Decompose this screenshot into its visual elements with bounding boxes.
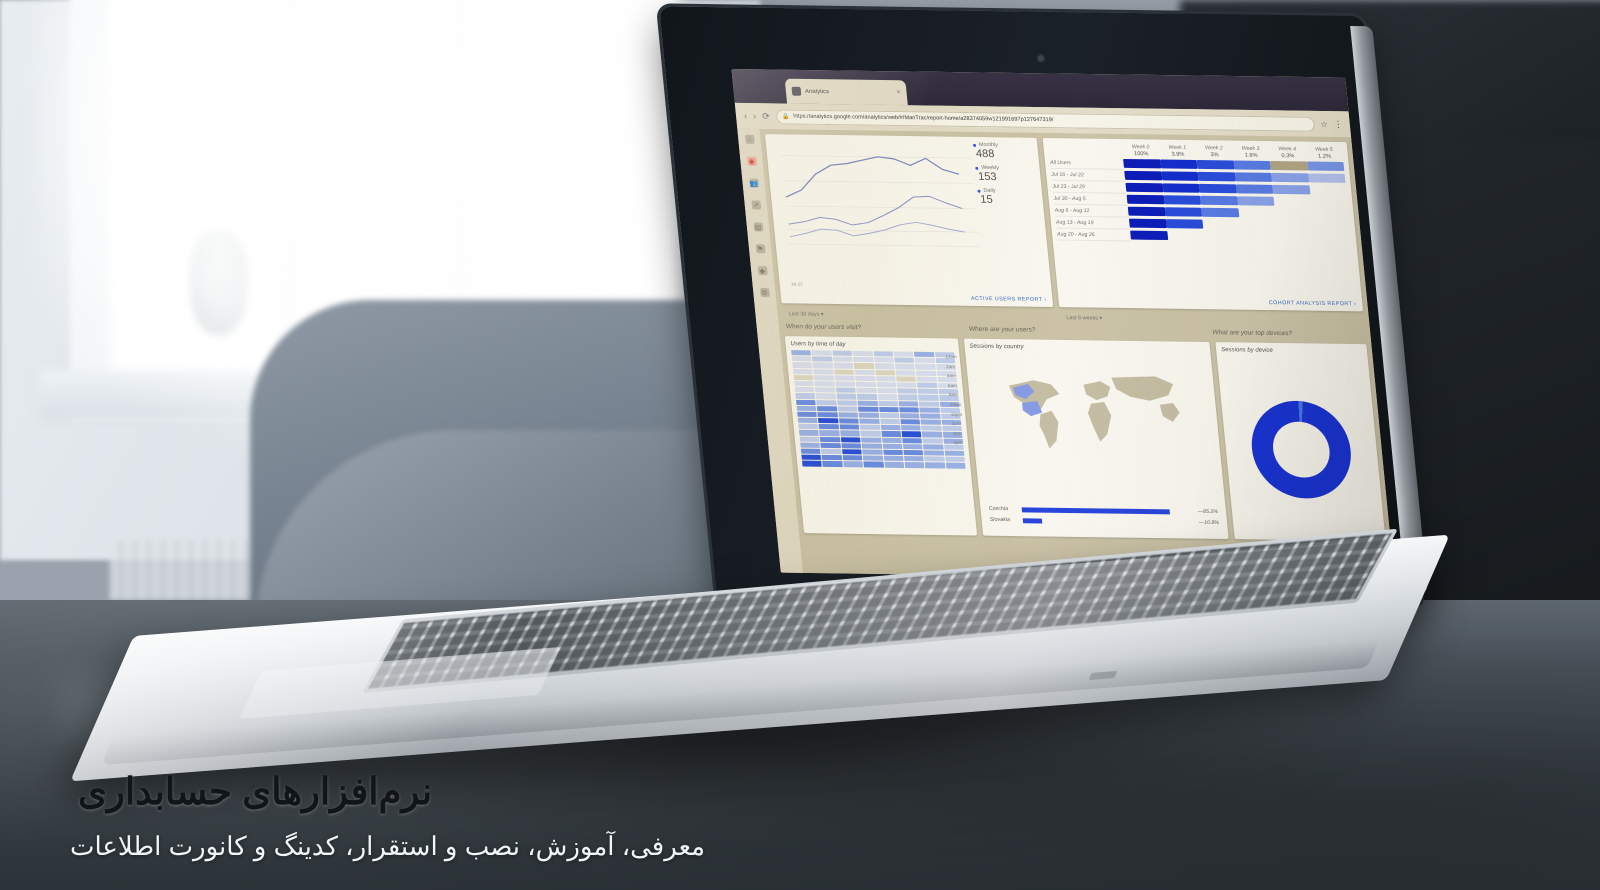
legend-dot bbox=[977, 189, 980, 192]
bar-track bbox=[1023, 518, 1197, 525]
cohort-cell-fill bbox=[1313, 221, 1351, 230]
cohort-cell-fill bbox=[1277, 233, 1315, 242]
heatmap-cell bbox=[862, 443, 882, 448]
cohort-cell bbox=[1311, 208, 1349, 220]
section-top-devices: What are your top devices? bbox=[1210, 328, 1366, 339]
heatmap-cell bbox=[860, 425, 880, 430]
back-arrow-icon[interactable]: ‹ bbox=[744, 111, 748, 121]
heatmap-cell bbox=[820, 430, 840, 435]
top-cards-row: Jul 23 Monthly488Weekly153Daily15 ACTIVE… bbox=[765, 134, 1363, 311]
cohort-cell-fill bbox=[1160, 160, 1198, 169]
heatmap-cell bbox=[873, 351, 893, 356]
cohort-cell-fill bbox=[1310, 197, 1348, 206]
hour-label: 8am bbox=[949, 392, 961, 397]
heatmap-cell bbox=[877, 388, 897, 393]
cohort-cell bbox=[1203, 218, 1241, 230]
webcam bbox=[1038, 55, 1045, 61]
heatmap-cell bbox=[920, 413, 940, 418]
heatmap-cell bbox=[797, 406, 817, 411]
analytics-app: ⌂◉👥↗▤⚑◆⚙ bbox=[737, 129, 1394, 581]
bar-track bbox=[1022, 507, 1196, 514]
heatmap-cell bbox=[874, 357, 894, 362]
country-value: —10.8% bbox=[1199, 520, 1220, 526]
cohort-cell bbox=[1125, 169, 1163, 181]
cohort-cell-fill bbox=[1131, 231, 1169, 240]
heatmap-cell bbox=[880, 425, 900, 430]
cohort-cell-fill bbox=[1233, 161, 1271, 170]
heatmap-cell bbox=[853, 351, 873, 356]
heatmap-cell bbox=[883, 450, 903, 455]
behavior-icon[interactable]: ▤ bbox=[753, 222, 763, 231]
cohort-cell bbox=[1201, 206, 1239, 218]
section-where-users: Where are your users? bbox=[967, 325, 1205, 337]
heatmap-cell bbox=[862, 449, 882, 454]
heatmap-cell bbox=[841, 437, 861, 442]
cohort-cell-fill bbox=[1129, 219, 1167, 228]
section-when-visit: When do your users visit? bbox=[783, 322, 961, 333]
heatmap-cell bbox=[863, 456, 883, 461]
heatmap-cell bbox=[921, 426, 941, 431]
active-users-report-link[interactable]: ACTIVE USERS REPORT › bbox=[971, 296, 1047, 303]
heatmap-cell bbox=[799, 430, 819, 435]
time-of-day-heatmap bbox=[791, 350, 965, 468]
cohort-cell-fill bbox=[1241, 232, 1279, 241]
cohort-cell-fill bbox=[1197, 160, 1235, 169]
heatmap-cell bbox=[856, 382, 876, 387]
heatmap-cell bbox=[946, 463, 966, 468]
cohort-card: Week 0Week 1Week 2Week 3Week 4Week 5100%… bbox=[1043, 138, 1363, 311]
heatmap-cell bbox=[902, 432, 922, 437]
cohort-table: Week 0Week 1Week 2Week 3Week 4Week 5100%… bbox=[1048, 143, 1351, 245]
heatmap-cell bbox=[895, 370, 915, 375]
cohort-cell-fill bbox=[1199, 184, 1237, 193]
admin-icon[interactable]: ⚙ bbox=[759, 288, 769, 297]
legend-value: 488 bbox=[975, 148, 1034, 161]
heatmap-cell bbox=[897, 382, 917, 387]
cohort-cell bbox=[1308, 172, 1346, 184]
heatmap-cell bbox=[836, 388, 856, 393]
heatmap-cell bbox=[904, 456, 924, 461]
cohort-cell-fill bbox=[1314, 233, 1352, 242]
heatmap-cell bbox=[864, 462, 884, 467]
heatmap-cell bbox=[821, 449, 841, 454]
tab-title: Analytics bbox=[805, 88, 830, 94]
date-range-label: Last 30 days bbox=[788, 311, 819, 317]
country-name: Slovakia bbox=[989, 517, 1020, 523]
heatmap-cell bbox=[919, 401, 939, 406]
link-label: ACTIVE USERS REPORT bbox=[971, 296, 1043, 303]
heatmap-cell bbox=[795, 387, 815, 392]
cohort-cell bbox=[1200, 194, 1238, 206]
cohort-cell-fill bbox=[1237, 196, 1275, 205]
lid-body: Analytics × ‹ › ⟳ 🔒 https://analytics.go… bbox=[659, 6, 1421, 603]
heatmap-cell bbox=[792, 362, 812, 367]
heatmap-cell bbox=[798, 418, 818, 423]
heatmap-cell bbox=[903, 450, 923, 455]
cohort-cell bbox=[1167, 230, 1205, 242]
cohort-cell bbox=[1204, 230, 1242, 242]
heatmap-cell bbox=[880, 419, 900, 424]
active-users-svg bbox=[770, 139, 981, 259]
heatmap-cell bbox=[945, 457, 965, 462]
chevron-down-icon: ▾ bbox=[1099, 316, 1102, 322]
heatmap-cell bbox=[817, 406, 837, 411]
cohort-cell-fill bbox=[1307, 162, 1345, 171]
heatmap-cell bbox=[922, 432, 942, 437]
cohort-row-label: Jul 30 - Aug 5 bbox=[1053, 192, 1128, 205]
heatmap-cell bbox=[836, 394, 856, 399]
cohort-cell bbox=[1128, 205, 1166, 217]
heatmap-cell bbox=[896, 376, 916, 381]
heatmap-cell bbox=[897, 388, 917, 393]
browser-window: Analytics × ‹ › ⟳ 🔒 https://analytics.go… bbox=[731, 69, 1394, 581]
heatmap-cell bbox=[899, 407, 919, 412]
heatmap-cell bbox=[882, 444, 902, 449]
heatmap-cell bbox=[793, 369, 813, 374]
hour-label: 6pm bbox=[953, 440, 965, 445]
heatmap-cell bbox=[842, 449, 862, 454]
cohort-cell bbox=[1275, 207, 1313, 219]
cohort-cell bbox=[1162, 182, 1200, 194]
chevron-right-icon: › bbox=[1044, 297, 1047, 303]
cohort-row-label: Jul 23 - Jul 29 bbox=[1052, 180, 1127, 193]
cohort-cell bbox=[1238, 207, 1276, 219]
cohort-cell bbox=[1309, 184, 1347, 196]
analytics-favicon bbox=[791, 87, 801, 96]
cohort-cell bbox=[1123, 158, 1161, 170]
heatmap-cell bbox=[882, 437, 902, 442]
heatmap-cell bbox=[944, 451, 964, 456]
cohort-cell-fill bbox=[1311, 209, 1349, 218]
heatmap-cell bbox=[814, 375, 834, 380]
bar-fill bbox=[1022, 507, 1170, 514]
heatmap-cell bbox=[918, 389, 938, 394]
cohort-cell-fill bbox=[1167, 231, 1205, 240]
heatmap-cell bbox=[838, 412, 858, 417]
heatmap-cell bbox=[794, 381, 814, 386]
heatmap-cell bbox=[840, 431, 860, 436]
heatmap-cell bbox=[816, 393, 836, 398]
heatmap-cell bbox=[823, 461, 843, 466]
cohort-cell bbox=[1234, 171, 1272, 183]
heatmap-cell bbox=[821, 443, 841, 448]
cohort-cell-fill bbox=[1203, 220, 1241, 229]
cohort-cell bbox=[1273, 195, 1311, 207]
cohort-cell bbox=[1127, 193, 1165, 205]
chevron-right-icon: › bbox=[1354, 301, 1357, 307]
cohort-cell bbox=[1165, 206, 1203, 218]
heatmap-cell bbox=[818, 418, 838, 423]
cohort-cell-fill bbox=[1125, 171, 1163, 180]
cohort-cell bbox=[1129, 217, 1167, 229]
heatmap-cell bbox=[798, 424, 818, 429]
address-bar[interactable]: 🔒 https://analytics.google.com/analytics… bbox=[775, 109, 1315, 131]
cohort-cell-fill bbox=[1276, 221, 1314, 230]
audience-icon[interactable]: 👥 bbox=[749, 179, 759, 188]
heatmap-cell bbox=[853, 357, 873, 362]
heatmap-cell bbox=[883, 456, 903, 461]
heatmap-cell bbox=[875, 370, 895, 375]
cohort-cell bbox=[1272, 183, 1310, 195]
heatmap-cell bbox=[832, 351, 852, 356]
cohort-cell bbox=[1199, 182, 1237, 194]
heatmap-cell bbox=[902, 438, 922, 443]
analytics-main: Jul 23 Monthly488Weekly153Daily15 ACTIVE… bbox=[759, 129, 1394, 581]
heatmap-cell bbox=[812, 350, 832, 355]
address-bar-url: https://analytics.google.com/analytics/w… bbox=[793, 114, 1054, 124]
heatmap-cell bbox=[813, 369, 833, 374]
heatmap-cell bbox=[878, 400, 898, 405]
heatmap-cell bbox=[923, 444, 943, 449]
page-subtitle: معرفی، آموزش، نصب و استقرار، کدینگ و کان… bbox=[0, 831, 1600, 862]
cohort-row-label: Aug 20 - Aug 26 bbox=[1057, 228, 1132, 241]
cohort-cell-fill bbox=[1274, 197, 1312, 206]
forward-arrow-icon[interactable]: › bbox=[753, 111, 757, 121]
bottom-cards-row: Users by time of day 12am2am4am6am8am10a… bbox=[785, 336, 1386, 541]
heatmap-cell bbox=[797, 412, 817, 417]
heatmap-cell bbox=[914, 352, 934, 357]
card-title: Sessions by device bbox=[1221, 347, 1362, 355]
heatmap-cell bbox=[915, 364, 935, 369]
heatmap-cell bbox=[855, 376, 875, 381]
cohort-cell-fill bbox=[1124, 159, 1162, 168]
acquisition-icon[interactable]: ↗ bbox=[751, 200, 761, 209]
heatmap-cell bbox=[838, 406, 858, 411]
cohort-cell-fill bbox=[1309, 185, 1347, 194]
page-title: نرم‌افزارهای حسابداری bbox=[0, 772, 1600, 813]
country-name: Czechia bbox=[988, 506, 1019, 512]
cohort-cell bbox=[1161, 170, 1199, 182]
cohort-cell bbox=[1312, 220, 1350, 232]
cohort-cell-fill bbox=[1236, 184, 1274, 193]
hour-label: 4pm bbox=[952, 431, 964, 436]
cohort-cell-fill bbox=[1204, 232, 1242, 241]
heatmap-cell bbox=[917, 383, 937, 388]
heatmap-cell bbox=[881, 431, 901, 436]
heatmap-cell bbox=[842, 455, 862, 460]
heatmap-cell bbox=[802, 461, 822, 466]
heatmap-cell bbox=[944, 444, 964, 449]
cohort-cell-fill bbox=[1198, 172, 1236, 181]
card-title: Sessions by country bbox=[969, 344, 1205, 353]
cohort-cell-fill bbox=[1275, 209, 1313, 218]
heatmap-cell bbox=[916, 370, 936, 375]
heatmap-cell bbox=[794, 375, 814, 380]
heatmap-cell bbox=[833, 357, 853, 362]
heatmap-cell bbox=[801, 455, 821, 460]
heatmap-cell bbox=[924, 456, 944, 461]
hour-label: 6am bbox=[948, 383, 960, 388]
bookmark-star-icon[interactable]: ☆ bbox=[1320, 119, 1328, 128]
legend-value: 15 bbox=[980, 194, 1039, 207]
heatmap-cell bbox=[857, 394, 877, 399]
heatmap-cell bbox=[898, 395, 918, 400]
heatmap-cell bbox=[857, 400, 877, 405]
heatmap-cell bbox=[839, 425, 859, 430]
device-card: Sessions by device bbox=[1215, 342, 1385, 541]
time-of-day-card: Users by time of day 12am2am4am6am8am10a… bbox=[785, 336, 977, 535]
heatmap-cell bbox=[792, 356, 812, 361]
cohort-cell-fill bbox=[1166, 219, 1204, 228]
cohort-cell-fill bbox=[1163, 183, 1201, 192]
cohort-cell bbox=[1166, 218, 1204, 230]
cohort-cell-fill bbox=[1200, 196, 1238, 205]
realtime-icon[interactable]: ◉ bbox=[747, 157, 757, 166]
close-icon[interactable]: × bbox=[896, 89, 901, 96]
legend-dot bbox=[975, 166, 978, 169]
heatmap-cell bbox=[800, 442, 820, 447]
heatmap-cell bbox=[834, 369, 854, 374]
heatmap-cell bbox=[843, 462, 863, 467]
hour-label: 4am bbox=[947, 373, 959, 378]
heatmap-cell bbox=[841, 443, 861, 448]
cohort-report-link[interactable]: COHORT ANALYSIS REPORT › bbox=[1269, 300, 1357, 307]
country-value: —85.2% bbox=[1198, 509, 1219, 515]
cohort-cell-fill bbox=[1165, 207, 1203, 216]
heatmap-cell bbox=[854, 369, 874, 374]
world-map bbox=[974, 361, 1213, 459]
cohort-cell-fill bbox=[1164, 195, 1202, 204]
overflow-menu-icon[interactable]: ⋮ bbox=[1333, 119, 1342, 130]
cohort-cell bbox=[1271, 171, 1309, 183]
heatmap-cell bbox=[796, 399, 816, 404]
x-axis-ticks: Jul 23 bbox=[790, 281, 802, 286]
heatmap-cell bbox=[900, 413, 920, 418]
heatmap-cell bbox=[795, 393, 815, 398]
heatmap-cell bbox=[874, 364, 894, 369]
conversions-icon[interactable]: ⚑ bbox=[755, 244, 765, 253]
cohort-cell bbox=[1277, 231, 1315, 243]
cohort-cell bbox=[1198, 170, 1236, 182]
heatmap-cell bbox=[856, 388, 876, 393]
cohort-cell bbox=[1197, 159, 1235, 171]
cohort-cell-fill bbox=[1202, 208, 1240, 217]
country-bars: Czechia—85.2%Slovakia—10.8% bbox=[988, 506, 1220, 531]
cohort-row-label: Jul 16 - Jul 22 bbox=[1051, 168, 1126, 181]
cohort-cell bbox=[1164, 194, 1202, 206]
heatmap-cell bbox=[818, 412, 838, 417]
cohort-cell-fill bbox=[1235, 172, 1273, 181]
heatmap-cell bbox=[800, 436, 820, 441]
heatmap-cell bbox=[884, 462, 904, 467]
heatmap-cell bbox=[903, 444, 923, 449]
hour-label: 2am bbox=[946, 364, 958, 369]
heatmap-cell bbox=[905, 462, 925, 467]
hour-label: 2pm bbox=[951, 421, 963, 426]
card-title: Users by time of day bbox=[790, 341, 954, 349]
chevron-down-icon: ▾ bbox=[821, 312, 824, 318]
heatmap-cell bbox=[813, 363, 833, 368]
hour-label: 12pm bbox=[950, 412, 962, 417]
link-label: COHORT ANALYSIS REPORT bbox=[1269, 300, 1353, 307]
cohort-cell bbox=[1314, 232, 1352, 244]
heatmap-cell bbox=[901, 425, 921, 430]
home-icon[interactable]: ⌂ bbox=[744, 135, 754, 144]
heatmap-cell bbox=[898, 401, 918, 406]
heatmap-cell bbox=[923, 438, 943, 443]
cohort-cell-fill bbox=[1308, 173, 1346, 182]
discover-icon[interactable]: ◆ bbox=[757, 266, 767, 275]
cohort-cell bbox=[1307, 160, 1345, 172]
heatmap-cell bbox=[858, 406, 878, 411]
cohort-cell bbox=[1126, 181, 1164, 193]
cohort-cell bbox=[1237, 195, 1275, 207]
heatmap-cell bbox=[815, 381, 835, 386]
hour-label: 10am bbox=[949, 402, 961, 407]
country-card: Sessions by country bbox=[964, 339, 1229, 539]
heatmap-cell bbox=[835, 381, 855, 386]
heatmap-cell bbox=[859, 413, 879, 418]
cohort-cell bbox=[1239, 219, 1277, 231]
bar-fill bbox=[1023, 518, 1042, 523]
legend-dot bbox=[973, 143, 976, 146]
cohort-cell bbox=[1276, 219, 1314, 231]
heatmap-cell bbox=[876, 382, 896, 387]
heatmap-cell bbox=[859, 419, 879, 424]
cohort-cell bbox=[1160, 158, 1198, 170]
cohort-cell bbox=[1236, 183, 1274, 195]
cohort-cell-fill bbox=[1272, 185, 1310, 194]
lock-icon: 🔒 bbox=[782, 113, 790, 120]
heatmap-cell bbox=[877, 394, 897, 399]
sessions-by-device-donut bbox=[1247, 400, 1355, 499]
heatmap-cell bbox=[854, 363, 874, 368]
cohort-cell bbox=[1240, 231, 1278, 243]
heatmap-cell bbox=[915, 358, 935, 363]
cohort-cell bbox=[1310, 196, 1348, 208]
heatmap-cell bbox=[917, 376, 937, 381]
active-users-card: Jul 23 Monthly488Weekly153Daily15 ACTIVE… bbox=[765, 134, 1053, 307]
heatmap-cell bbox=[879, 407, 899, 412]
legend-value: 153 bbox=[978, 171, 1037, 184]
caption-overlay: نرم‌افزارهای حسابداری معرفی، آموزش، نصب … bbox=[0, 772, 1600, 862]
heatmap-cell bbox=[861, 437, 881, 442]
reload-icon[interactable]: ⟳ bbox=[762, 111, 771, 122]
heatmap-cell bbox=[833, 363, 853, 368]
heatmap-cell bbox=[876, 376, 896, 381]
heatmap-cell bbox=[920, 407, 940, 412]
heatmap-cell bbox=[861, 431, 881, 436]
heatmap-cell bbox=[812, 357, 832, 362]
cohort-cell-fill bbox=[1126, 183, 1164, 192]
heatmap-cell bbox=[918, 395, 938, 400]
cohort-cell-fill bbox=[1271, 173, 1309, 182]
browser-tab[interactable]: Analytics × bbox=[785, 79, 908, 106]
active-users-chart: Jul 23 bbox=[770, 139, 985, 301]
x-tick: Jul 23 bbox=[790, 281, 802, 286]
active-users-date-range[interactable]: Last 30 days ▾ bbox=[788, 311, 824, 317]
cohort-date-range[interactable]: Last 6 weeks ▾ bbox=[1066, 315, 1102, 321]
hour-label: 12am bbox=[945, 354, 957, 359]
heatmap-cell bbox=[839, 418, 859, 423]
heatmap-cell bbox=[801, 449, 821, 454]
heatmap-cell bbox=[925, 463, 945, 468]
country-bar-row: Slovakia—10.8% bbox=[989, 517, 1219, 526]
heatmap-cell bbox=[895, 364, 915, 369]
cohort-row-label: Aug 6 - Aug 12 bbox=[1054, 204, 1129, 217]
cohort-cell-fill bbox=[1238, 208, 1276, 217]
heatmap-cell bbox=[819, 424, 839, 429]
cohort-cell-fill bbox=[1161, 171, 1199, 180]
cohort-cell bbox=[1270, 160, 1308, 172]
heatmap-cell bbox=[791, 350, 811, 355]
heatmap-cell bbox=[924, 450, 944, 455]
heatmap-cell bbox=[900, 419, 920, 424]
heatmap-cell bbox=[921, 420, 941, 425]
cohort-cell bbox=[1130, 229, 1168, 241]
heatmap-cell bbox=[816, 400, 836, 405]
cohort-row-label: Aug 13 - Aug 19 bbox=[1055, 216, 1130, 229]
